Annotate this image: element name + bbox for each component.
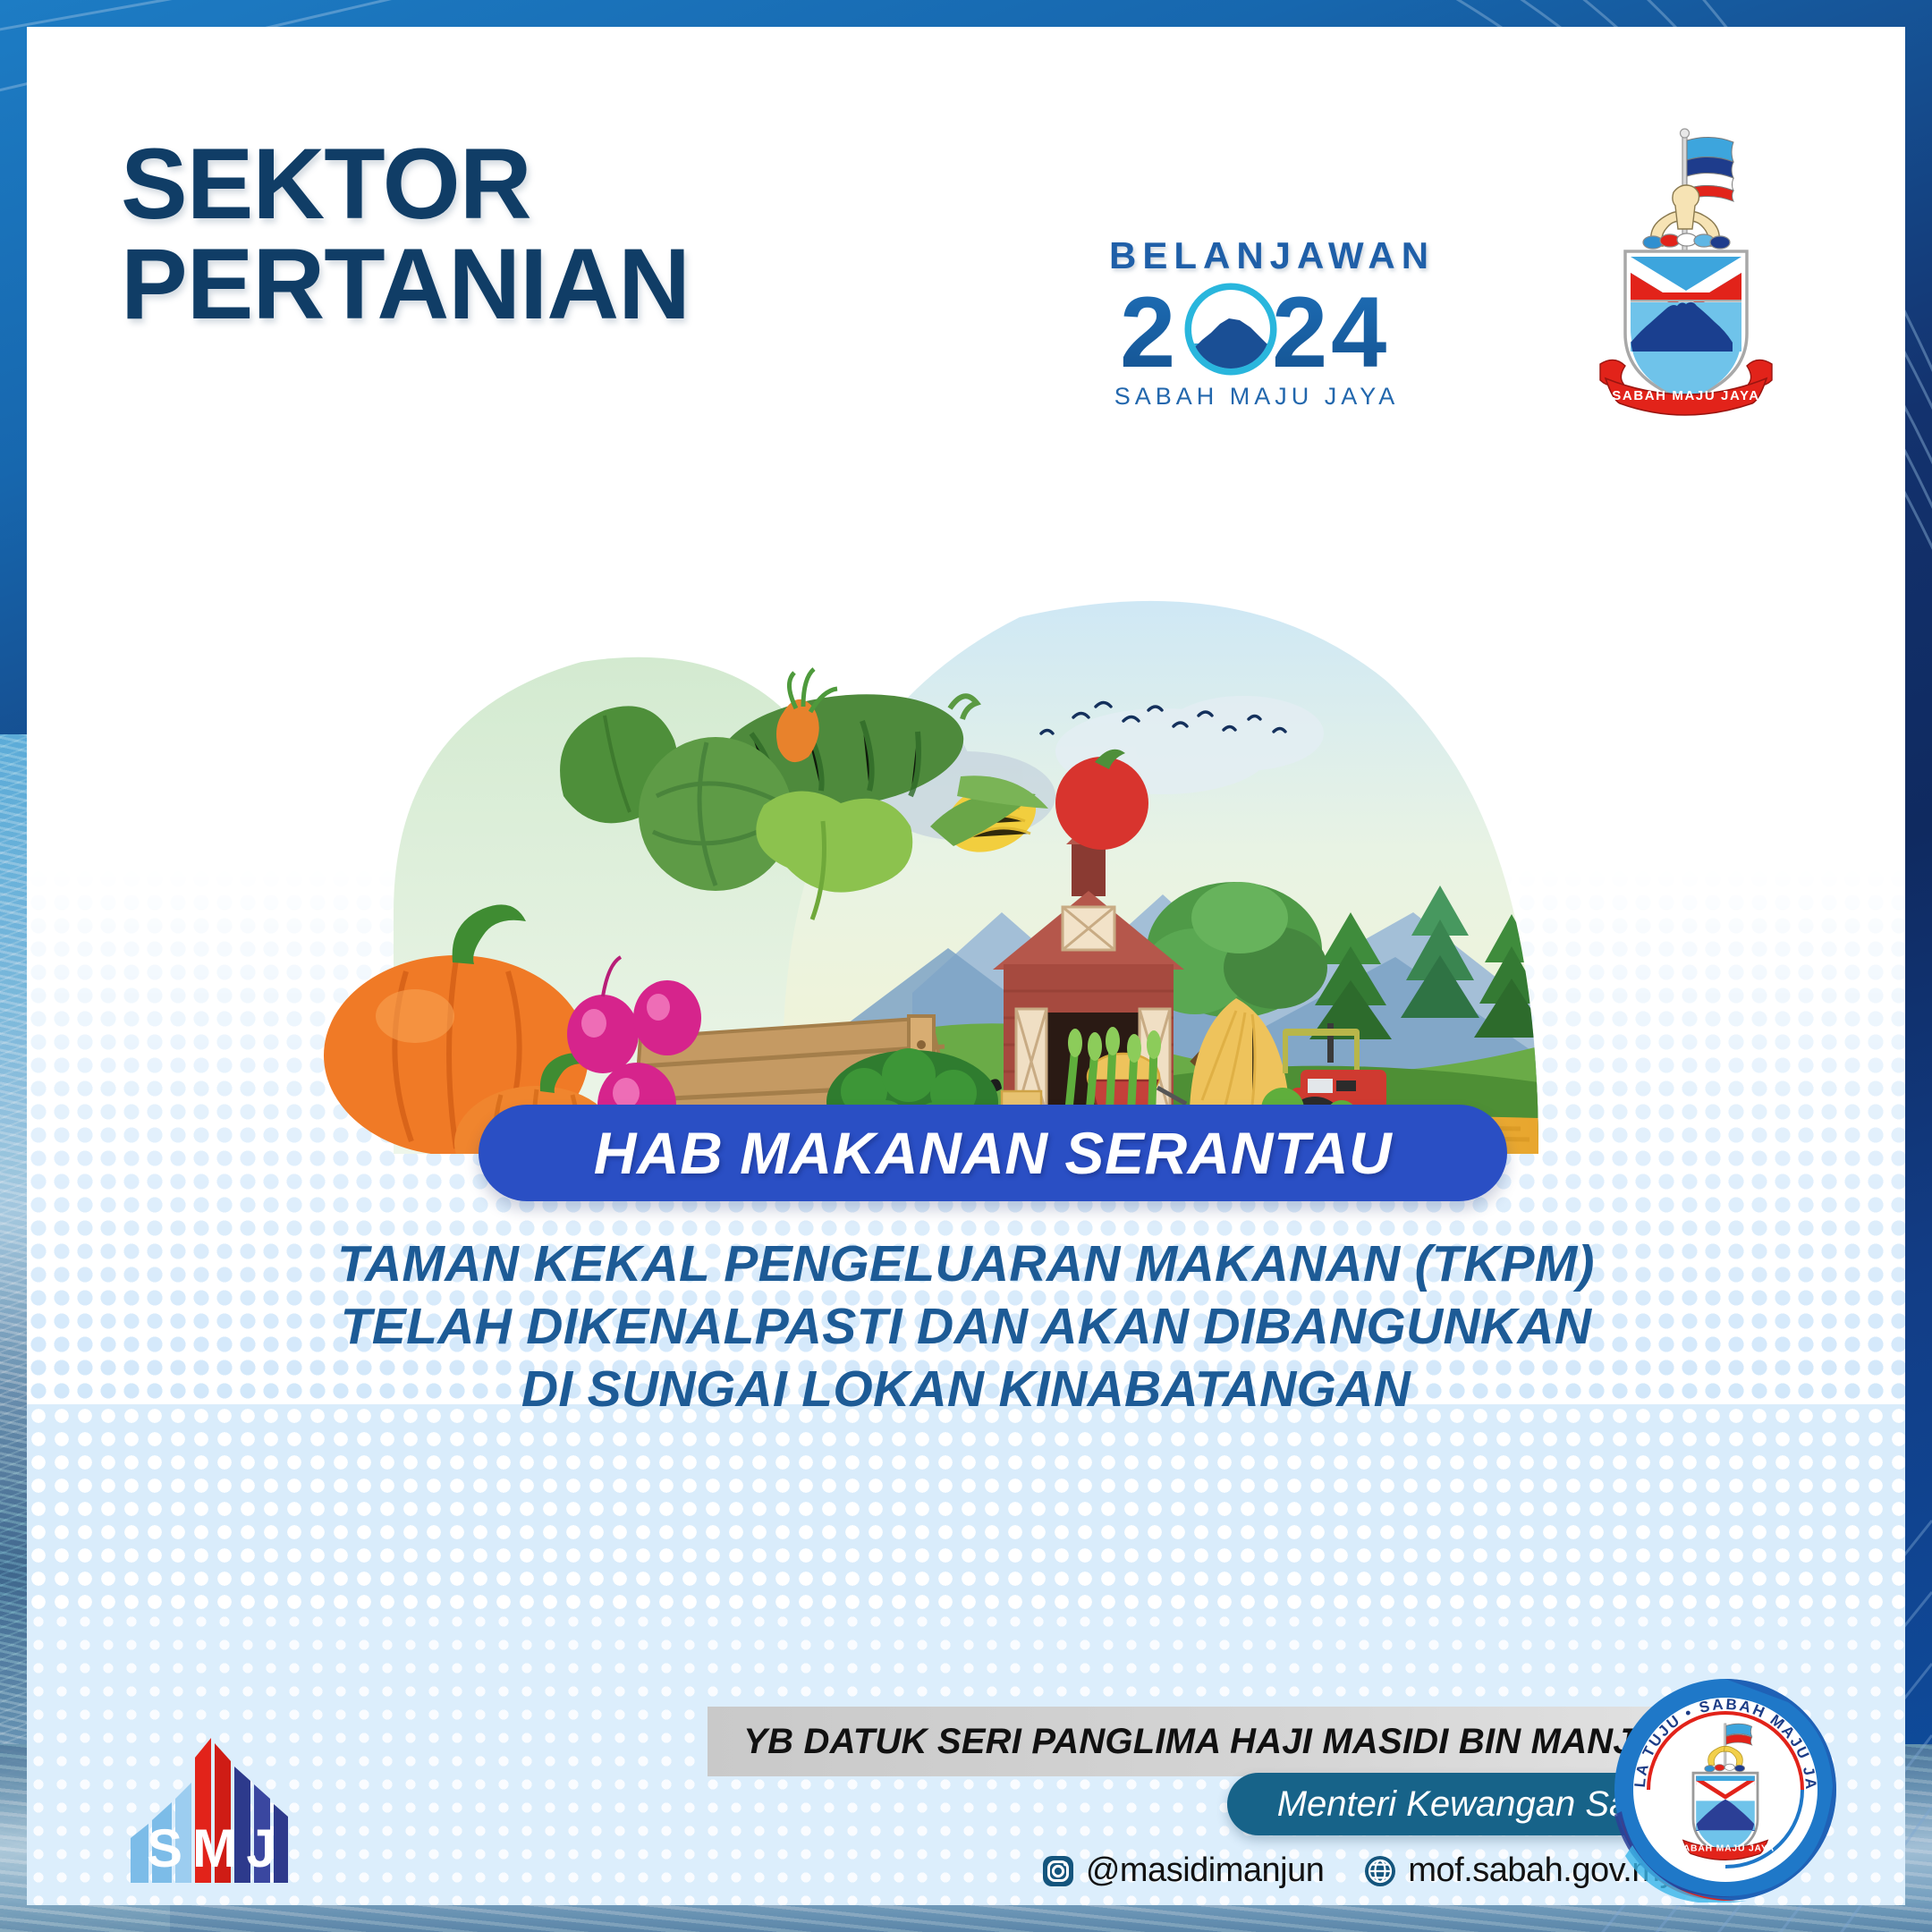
svg-text:2: 2: [1272, 276, 1327, 381]
agriculture-illustration: [286, 528, 1646, 1154]
budget-logo-tagline: SABAH MAJU JAYA: [1109, 383, 1404, 411]
page-title-line-2: PERTANIAN: [121, 234, 690, 335]
headline-text: HAB MAKANAN SERANTAU: [594, 1119, 1392, 1187]
poster: SEKTOR PERTANIAN BELANJAWAN 2: [0, 0, 1932, 1932]
content-card: SEKTOR PERTANIAN BELANJAWAN 2: [27, 27, 1905, 1905]
social-links: @masidimanjun mof.sabah.gov.my: [1041, 1851, 1676, 1890]
smj-letter-s: S: [147, 1818, 182, 1878]
body-line-3: DI SUNGAI LOKAN KINABATANGAN: [27, 1358, 1905, 1420]
smj-letter-m: M: [192, 1818, 237, 1878]
svg-text:4: 4: [1331, 276, 1386, 381]
hala-tuju-seal-icon: HALA TUJU • SABAH MAJU JAYA: [1613, 1677, 1838, 1902]
budget-2024-logo: BELANJAWAN 2 2: [1109, 234, 1404, 411]
smj-logo-icon: S M J: [125, 1731, 295, 1892]
svg-text:2: 2: [1120, 276, 1175, 381]
instagram-icon: [1041, 1854, 1075, 1888]
body-line-1: TAMAN KEKAL PENGELUARAN MAKANAN (TKPM): [27, 1233, 1905, 1295]
body-line-2: TELAH DIKENALPASTI DAN AKAN DIBANGUNKAN: [27, 1295, 1905, 1358]
budget-logo-word: BELANJAWAN: [1109, 234, 1404, 277]
instagram-link[interactable]: @masidimanjun: [1041, 1851, 1325, 1890]
minister-name-banner: YB DATUK SERI PANGLIMA HAJI MASIDI BIN M…: [708, 1707, 1716, 1776]
svg-text:SABAH MAJU JAYA: SABAH MAJU JAYA: [1676, 1843, 1775, 1853]
minister-name: YB DATUK SERI PANGLIMA HAJI MASIDI BIN M…: [743, 1722, 1685, 1762]
smj-letter-j: J: [246, 1818, 275, 1878]
budget-logo-year: 2 2 4: [1109, 274, 1404, 381]
globe-icon: [1363, 1854, 1397, 1888]
body-copy: TAMAN KEKAL PENGELUARAN MAKANAN (TKPM) T…: [27, 1233, 1905, 1420]
instagram-handle: @masidimanjun: [1086, 1851, 1325, 1890]
page-title-line-1: SEKTOR: [121, 134, 690, 234]
page-title: SEKTOR PERTANIAN: [121, 134, 690, 335]
crest-ribbon-text: SABAH MAJU JAYA: [1612, 388, 1759, 403]
sabah-coat-of-arms-icon: SABAH MAJU JAYA: [1570, 121, 1802, 416]
headline-banner: HAB MAKANAN SERANTAU: [479, 1105, 1507, 1201]
